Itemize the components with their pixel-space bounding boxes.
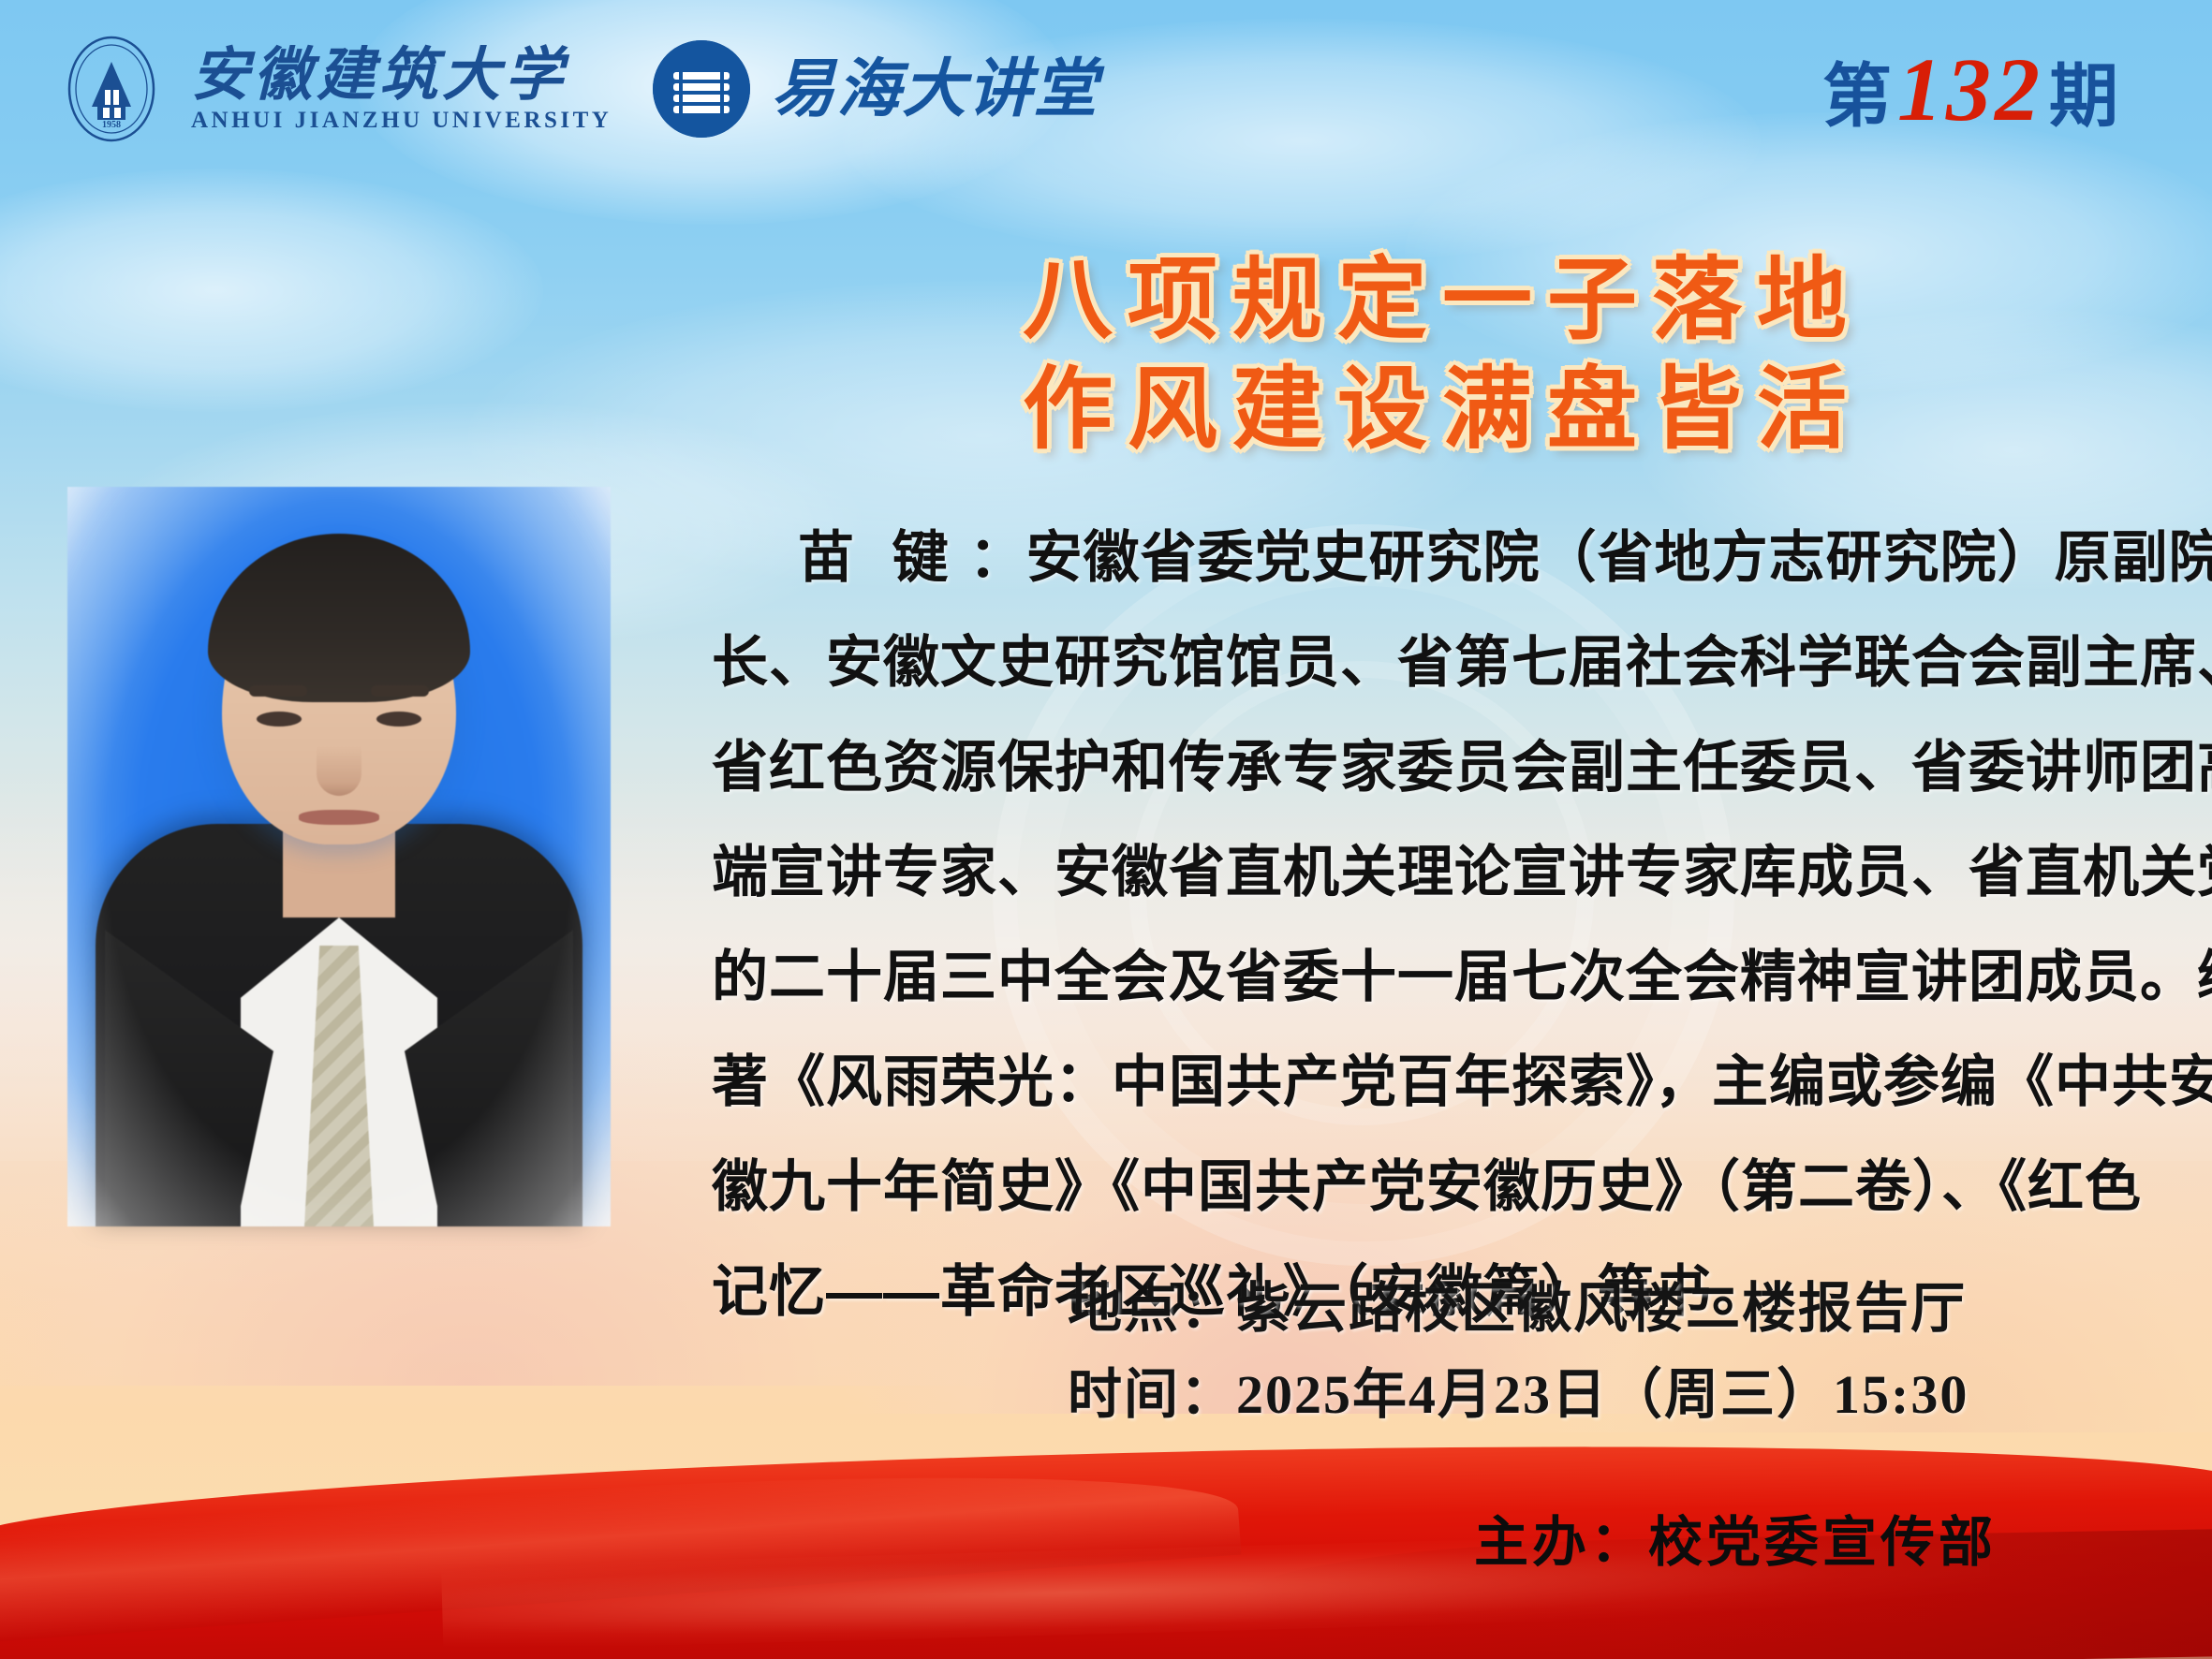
bio-line: 省红色资源保护和传承专家委员会副主任委员、省委讲师团高 — [712, 715, 2135, 820]
event-time: 时间：2025年4月23日（周三）15:30 — [1068, 1352, 1969, 1438]
university-name: 安徽建筑大学 ANHUI JIANZHU UNIVERSITY — [191, 47, 612, 132]
bio-line: 著《风雨荣光：中国共产党百年探索》，主编或参编《中共安 — [712, 1030, 2135, 1135]
bio-line: 长、安徽文史研究馆馆员、省第七届社会科学联合会副主席、 — [712, 610, 2135, 715]
bio-line: 徽九十年简史》《中国共产党安徽历史》（第二卷）、《红色 — [712, 1135, 2135, 1240]
university-crest-icon: 1958 — [56, 34, 167, 144]
speaker-bio: 苗 键：安徽省委党史研究院（省地方志研究院）原副院 长、安徽文史研究馆馆员、省第… — [712, 506, 2135, 1344]
speaker-name: 苗 键 — [798, 526, 969, 589]
host-organization: 主办：校党委宣传部 — [1474, 1498, 1997, 1577]
cloud-decoration — [0, 169, 543, 412]
bio-line: 的二十届三中全会及省委十一届七次全会精神宣讲团成员。编 — [712, 925, 2135, 1030]
title-line-1: 八项规定一子落地 — [899, 245, 1985, 355]
book-icon — [653, 40, 750, 138]
lecture-series-brand: 易海大讲堂 — [653, 40, 1099, 138]
issue-suffix: 期 — [2049, 40, 2118, 140]
svg-text:1958: 1958 — [102, 120, 121, 130]
portrait-vignette — [67, 487, 611, 1226]
bio-line: 苗 键：安徽省委党史研究院（省地方志研究院）原副院 — [712, 506, 2135, 610]
title-line-2: 作风建设满盘皆活 — [899, 355, 1985, 464]
poster-canvas: 1958 安徽建筑大学 ANHUI JIANZHU UNIVERSITY — [0, 0, 2212, 1659]
issue-number: 132 — [1897, 37, 2043, 141]
university-brand: 1958 安徽建筑大学 ANHUI JIANZHU UNIVERSITY — [56, 34, 612, 144]
event-details: 地点：紫云路校区徽风楼二楼报告厅 时间：2025年4月23日（周三）15:30 — [1068, 1266, 1969, 1438]
event-venue: 地点：紫云路校区徽风楼二楼报告厅 — [1068, 1266, 1969, 1352]
lecture-series-title: 易海大讲堂 — [771, 57, 1099, 121]
speaker-separator: ： — [969, 526, 1026, 589]
bio-text: 安徽省委党史研究院（省地方志研究院）原副院 — [1026, 526, 2212, 589]
poster-header: 1958 安徽建筑大学 ANHUI JIANZHU UNIVERSITY — [0, 0, 2212, 178]
page-title: 八项规定一子落地 作风建设满盘皆活 — [899, 245, 1985, 464]
speaker-portrait — [67, 487, 611, 1226]
issue-badge: 第 132 期 — [1822, 37, 2156, 141]
issue-prefix: 第 — [1822, 40, 1892, 140]
bio-line: 端宣讲专家、安徽省直机关理论宣讲专家库成员、省直机关党 — [712, 820, 2135, 925]
university-name-en: ANHUI JIANZHU UNIVERSITY — [191, 109, 612, 132]
university-name-cn: 安徽建筑大学 — [191, 47, 612, 105]
